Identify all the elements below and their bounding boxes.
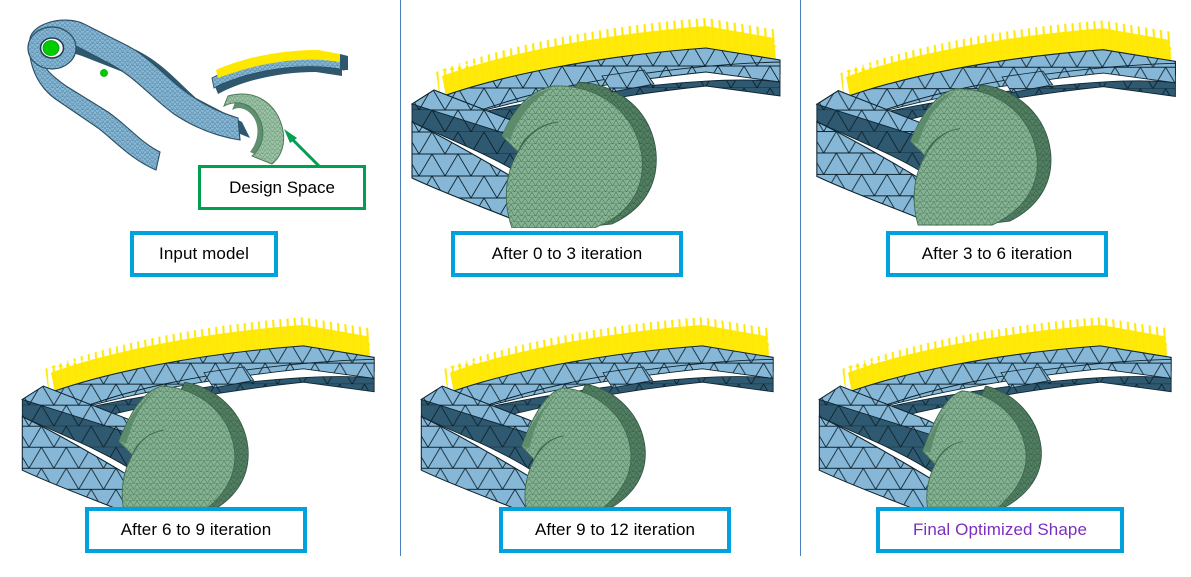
iteration-9-12-viewport [411,300,793,518]
caption-text: After 6 to 9 iteration [121,521,272,540]
caption-final-shape[interactable]: Final Optimized Shape [876,507,1124,553]
panel-iteration-9-12: After 9 to 12 iteration [401,290,800,577]
final-shape-mesh [811,300,1189,518]
caption-text: After 3 to 6 iteration [922,245,1073,264]
iteration-0-3-mesh [406,0,796,228]
panel-input-model: Design Space Input model [0,0,400,290]
caption-iteration-3-6[interactable]: After 3 to 6 iteration [886,231,1108,277]
panel-iteration-3-6: After 3 to 6 iteration [801,0,1191,290]
iteration-9-12-mesh [411,300,793,518]
caption-iteration-6-9[interactable]: After 6 to 9 iteration [85,507,307,553]
caption-text: After 9 to 12 iteration [535,521,695,540]
caption-text: Final Optimized Shape [913,521,1087,540]
panel-iteration-0-3: After 0 to 3 iteration [401,0,800,290]
iteration-6-9-viewport [12,300,394,518]
caption-text: After 0 to 3 iteration [492,245,643,264]
iteration-0-3-viewport [406,0,796,228]
caption-text: Input model [159,245,249,264]
constraint-marker-arm-icon [100,69,107,76]
panel-iteration-6-9: After 6 to 9 iteration [0,290,400,577]
iteration-3-6-mesh [811,0,1191,228]
iteration-3-6-viewport [811,0,1191,228]
caption-iteration-0-3[interactable]: After 0 to 3 iteration [451,231,683,277]
constraint-marker-pivot-icon [43,41,59,56]
final-shape-viewport [811,300,1189,518]
input-plate-endcap [340,54,348,70]
panel-final-shape: Final Optimized Shape [801,290,1191,577]
figure-root: Design Space Input model [0,0,1191,577]
caption-iteration-9-12[interactable]: After 9 to 12 iteration [499,507,731,553]
design-space-callout: Design Space [198,165,366,210]
caption-input-model[interactable]: Input model [130,231,278,277]
design-space-label: Design Space [229,178,335,198]
iteration-6-9-mesh [12,300,394,518]
